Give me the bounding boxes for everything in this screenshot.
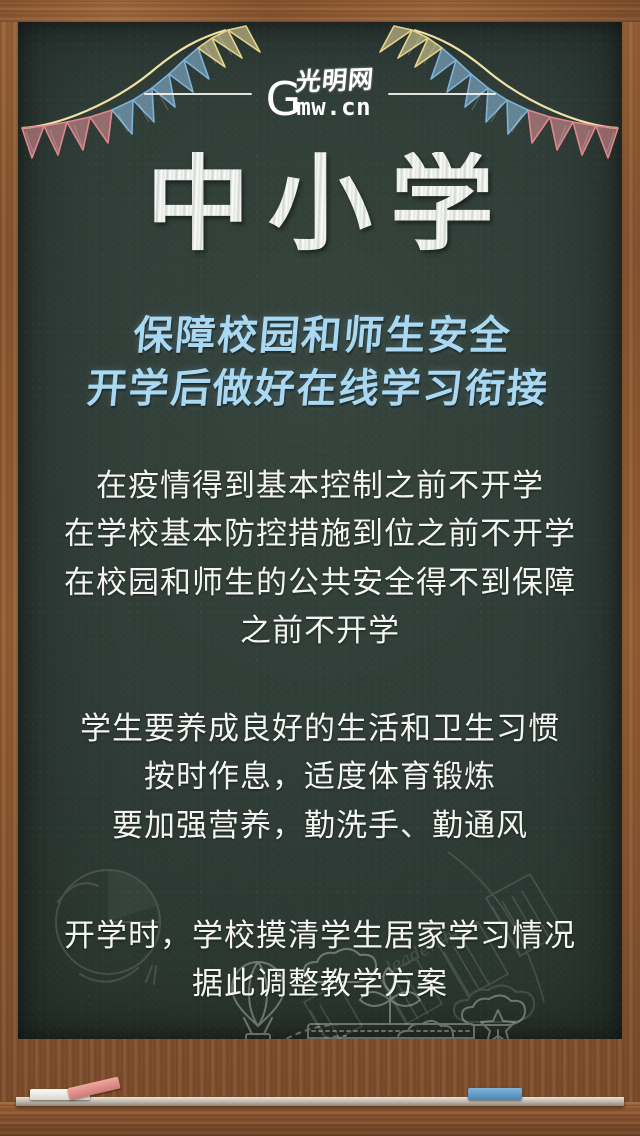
body-line: 要加强营养，勤洗手、勤通风 [18, 802, 622, 850]
gmw-logo: G 光明网 mw.cn [266, 68, 375, 119]
body-line: 之前不开学 [18, 607, 622, 655]
body-line: 在学校基本防控措施到位之前不开学 [18, 510, 622, 558]
body-block: 在疫情得到基本控制之前不开学 在学校基本防控措施到位之前不开学 在校园和师生的公… [18, 462, 622, 655]
body-line: 开学时，学校摸清学生居家学习情况 [18, 912, 622, 960]
body-block: 学生要养成良好的生活和卫生习惯 按时作息，适度体育锻炼 要加强营养，勤洗手、勤通… [18, 705, 622, 850]
rainbow-arch [218, 1024, 346, 1039]
page-title: 中小学 [18, 152, 622, 256]
brand-header: G 光明网 mw.cn [18, 68, 622, 119]
subtitle: 保障校园和师生安全 开学后做好在线学习衔接 [18, 310, 622, 416]
body-line: 学生要养成良好的生活和卫生习惯 [18, 705, 622, 753]
building-tower [480, 1010, 516, 1039]
logo-domain: mw.cn [296, 95, 371, 119]
chalk-ledge [16, 1097, 624, 1106]
subtitle-line: 保障校园和师生安全 [18, 310, 622, 363]
body-line: 在疫情得到基本控制之前不开学 [18, 462, 622, 510]
logo-brand-cn: 光明网 [295, 67, 375, 95]
body-line: 在校园和师生的公共安全得不到保障 [18, 559, 622, 607]
poster-root: leadership [0, 0, 640, 1136]
chalkboard: leadership [18, 22, 622, 1039]
body-block: 开学时，学校摸清学生居家学习情况 据此调整教学方案 [18, 912, 622, 1009]
body-line: 据此调整教学方案 [18, 960, 622, 1008]
subtitle-line: 开学后做好在线学习衔接 [18, 363, 622, 416]
frame-top-edge [0, 0, 640, 22]
divider-line-left [144, 93, 252, 95]
cloud-icon [398, 1021, 453, 1039]
divider-line-right [388, 93, 496, 95]
star-icon [481, 1010, 515, 1039]
body-line: 按时作息，适度体育锻炼 [18, 753, 622, 801]
chalk-stick-blue [468, 1088, 522, 1100]
frame-bottom-edge [0, 1102, 640, 1136]
